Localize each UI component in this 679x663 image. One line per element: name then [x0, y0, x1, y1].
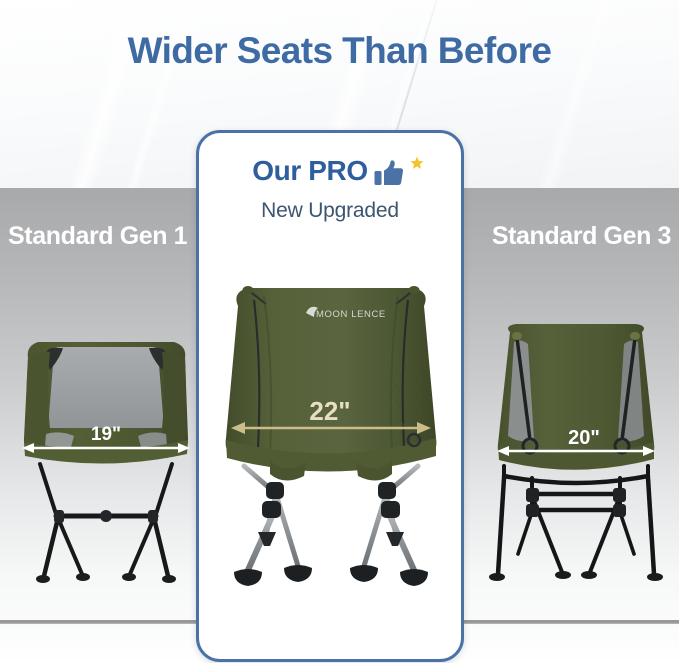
dimension-label-20: 20": [568, 427, 600, 449]
pro-badge-title: Our PRO: [252, 155, 367, 187]
dimension-label-19: 19": [91, 424, 121, 445]
dimension-label-22: 22": [309, 396, 350, 426]
pro-badge-header: Our PRO: [199, 155, 461, 187]
chair-standard-gen-1: 19": [16, 330, 196, 590]
chair-pro: MOON LENCE: [218, 270, 444, 595]
frame-hub: [100, 510, 112, 522]
pro-badge-subtitle: New Upgraded: [199, 199, 461, 223]
page-title: Wider Seats Than Before: [0, 30, 679, 72]
chair-feet: [36, 573, 176, 583]
brand-logo: MOON LENCE: [306, 307, 386, 320]
chair-mesh-back: [48, 347, 164, 428]
thumbs-up-icon: [374, 155, 408, 187]
brand-logo-text: MOON LENCE: [316, 309, 386, 320]
label-standard-gen-1: Standard Gen 1: [8, 222, 187, 251]
label-standard-gen-3: Standard Gen 3: [492, 222, 671, 251]
chair-frame: [498, 466, 654, 574]
chair-feet: [234, 565, 428, 586]
chair-standard-gen-3: 20": [484, 318, 668, 590]
chair-feet: [489, 571, 663, 581]
comparison-graphic: Wider Seats Than Before Standard Gen 1 S…: [0, 0, 679, 663]
